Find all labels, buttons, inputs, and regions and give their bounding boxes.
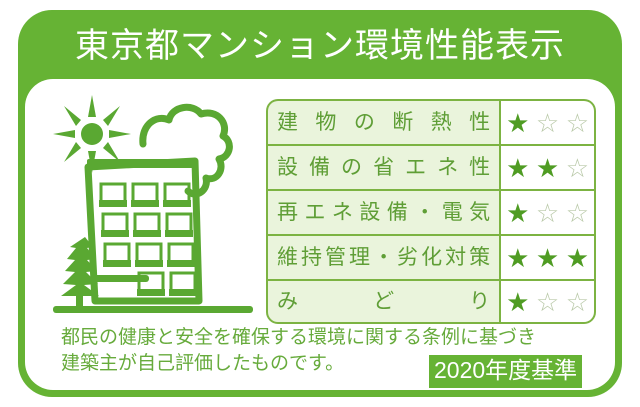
cloud-tree-icon: [143, 107, 230, 194]
star-empty-icon: ☆: [536, 289, 559, 315]
rating-label-cell: 再エネ設備・電気: [266, 189, 501, 234]
rating-stars-cell: ★ ☆ ☆: [501, 279, 596, 324]
rating-label-text: みどり: [277, 291, 490, 312]
window-row-2: [101, 214, 193, 237]
page-title: 東京都マンション環境性能表示: [75, 29, 565, 63]
rating-label-text: 設備の省エネ性: [277, 157, 490, 178]
star-filled-icon: ★: [536, 245, 559, 271]
rating-label-cell: 建物の断熱性: [266, 99, 501, 144]
star-empty-icon: ☆: [536, 110, 559, 136]
rating-stars-cell: ★ ★ ★: [501, 234, 596, 279]
rating-label-text: 維持管理・劣化対策: [277, 247, 490, 268]
table-row: 建物の断熱性 ★ ☆ ☆: [266, 99, 596, 144]
rating-label-text: 建物の断熱性: [277, 112, 490, 133]
star-filled-icon: ★: [536, 155, 559, 181]
star-filled-icon: ★: [506, 110, 529, 136]
table-row: みどり ★ ☆ ☆: [266, 279, 596, 324]
star-empty-icon: ☆: [566, 110, 589, 136]
star-empty-icon: ☆: [536, 200, 559, 226]
title-band: 東京都マンション環境性能表示: [18, 10, 622, 82]
star-filled-icon: ★: [506, 155, 529, 181]
footer-note-line1: 都民の健康と安全を確保する環境に関する条例に基づき: [61, 325, 536, 351]
standard-year-badge: 2020年度基準: [429, 355, 582, 388]
environmental-ratings-table: 建物の断熱性 ★ ☆ ☆ 設備の省エネ性 ★ ★ ☆ 再: [266, 99, 596, 324]
star-empty-icon: ☆: [566, 200, 589, 226]
star-filled-icon: ★: [506, 245, 529, 271]
eco-apartment-building-illustration: [43, 87, 263, 322]
rating-label-text: 再エネ設備・電気: [277, 202, 490, 223]
star-filled-icon: ★: [566, 245, 589, 271]
rating-label-cell: 維持管理・劣化対策: [266, 234, 501, 279]
ratings-table-body: 建物の断熱性 ★ ☆ ☆ 設備の省エネ性 ★ ★ ☆ 再: [266, 99, 596, 324]
star-filled-icon: ★: [506, 200, 529, 226]
inner-white-panel: 建物の断熱性 ★ ☆ ☆ 設備の省エネ性 ★ ★ ☆ 再: [25, 79, 615, 390]
star-empty-icon: ☆: [566, 289, 589, 315]
rating-label-cell: 設備の省エネ性: [266, 144, 501, 189]
environmental-performance-label-card: 東京都マンション環境性能表示: [18, 10, 622, 397]
footer: 都民の健康と安全を確保する環境に関する条例に基づき 建築主が自己評価したものです…: [25, 323, 615, 390]
rating-stars-cell: ★ ☆ ☆: [501, 99, 596, 144]
window-row-1: [99, 184, 191, 207]
rating-stars-cell: ★ ★ ☆: [501, 144, 596, 189]
window-row-3: [103, 244, 195, 267]
table-row: 設備の省エネ性 ★ ★ ☆: [266, 144, 596, 189]
rating-stars-cell: ★ ☆ ☆: [501, 189, 596, 234]
star-empty-icon: ☆: [566, 155, 589, 181]
rating-label-cell: みどり: [266, 279, 501, 324]
star-filled-icon: ★: [506, 289, 529, 315]
table-row: 維持管理・劣化対策 ★ ★ ★: [266, 234, 596, 279]
table-row: 再エネ設備・電気 ★ ☆ ☆: [266, 189, 596, 234]
